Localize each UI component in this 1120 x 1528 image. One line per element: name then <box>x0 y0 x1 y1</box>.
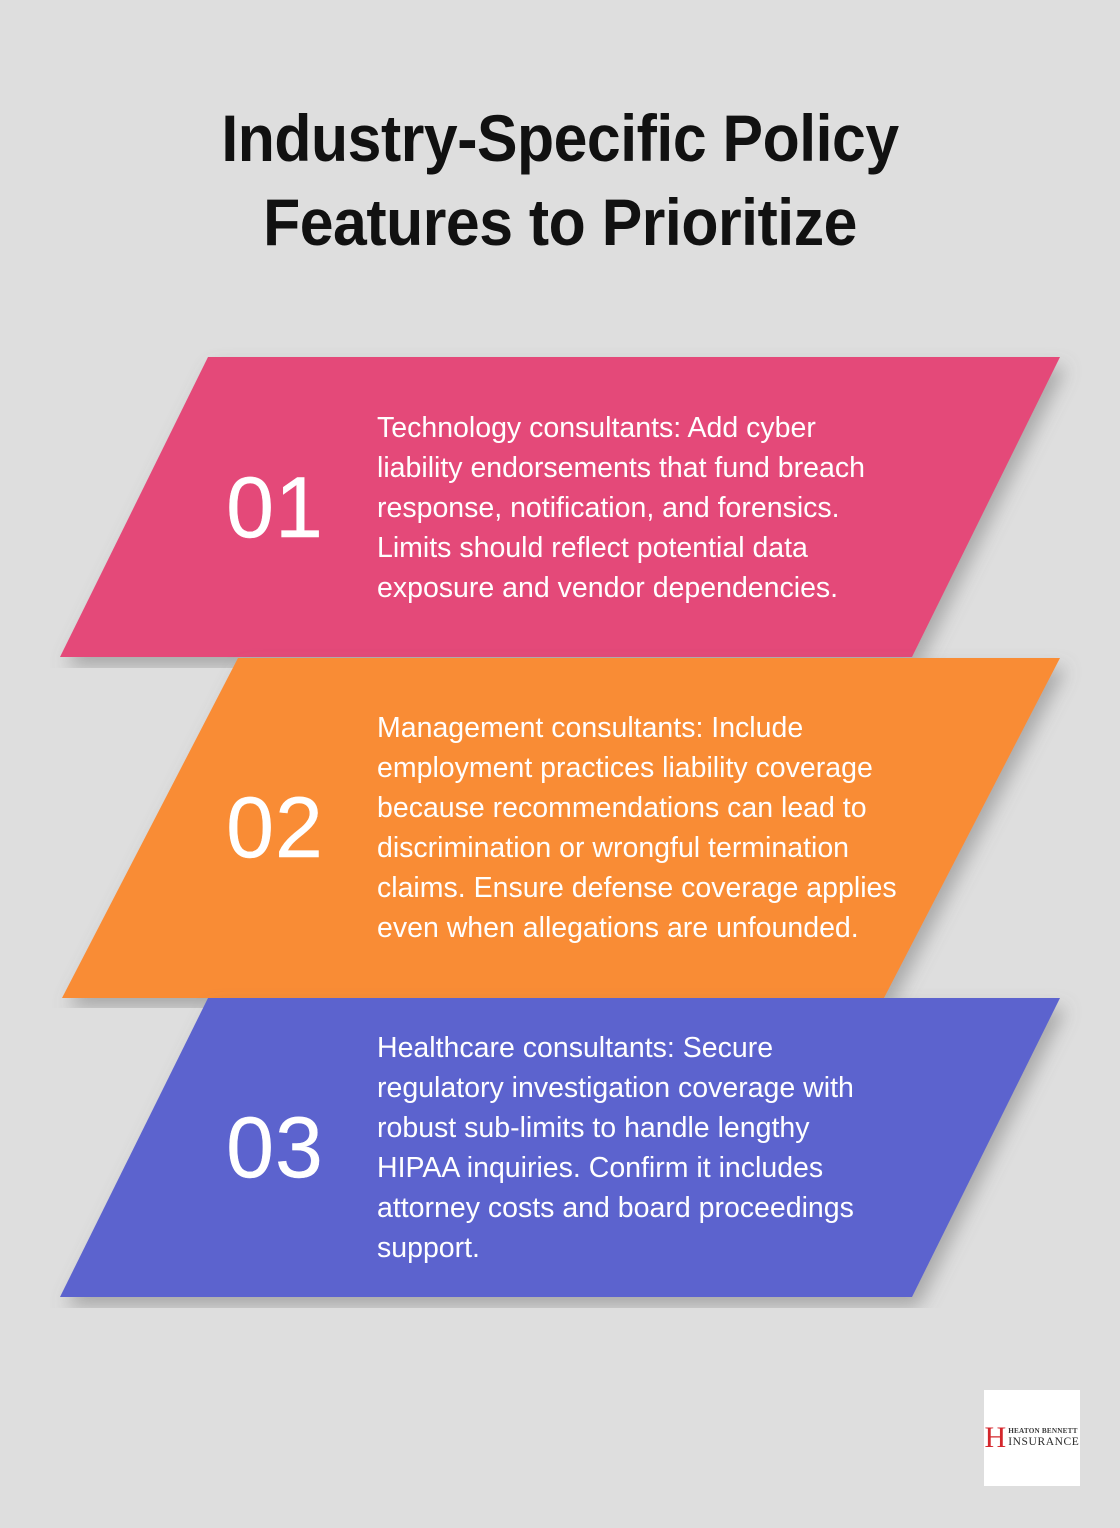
band-number-01: 01 <box>185 465 365 551</box>
band-text-02: Management consultants: Include employme… <box>377 708 897 948</box>
band-list: 01 Technology consultants: Add cyber lia… <box>0 0 1120 1528</box>
logo-company-type: INSURANCE <box>1008 1437 1079 1449</box>
band-item-01: 01 Technology consultants: Add cyber lia… <box>0 346 1120 668</box>
company-logo: H HEATON BENNETT INSURANCE <box>984 1390 1080 1486</box>
band-text-01: Technology consultants: Add cyber liabil… <box>377 408 897 608</box>
logo-company-name: HEATON BENNETT <box>1008 1428 1079 1435</box>
logo-monogram-h: H <box>985 1425 1007 1451</box>
band-number-02: 02 <box>185 785 365 871</box>
logo-wordmark: HEATON BENNETT INSURANCE <box>1008 1428 1079 1449</box>
band-item-02: 02 Management consultants: Include emplo… <box>0 646 1120 1008</box>
band-item-03: 03 Healthcare consultants: Secure regula… <box>0 986 1120 1308</box>
logo-mark: H HEATON BENNETT INSURANCE <box>985 1425 1080 1451</box>
band-text-03: Healthcare consultants: Secure regulator… <box>377 1028 897 1268</box>
band-number-03: 03 <box>185 1105 365 1191</box>
